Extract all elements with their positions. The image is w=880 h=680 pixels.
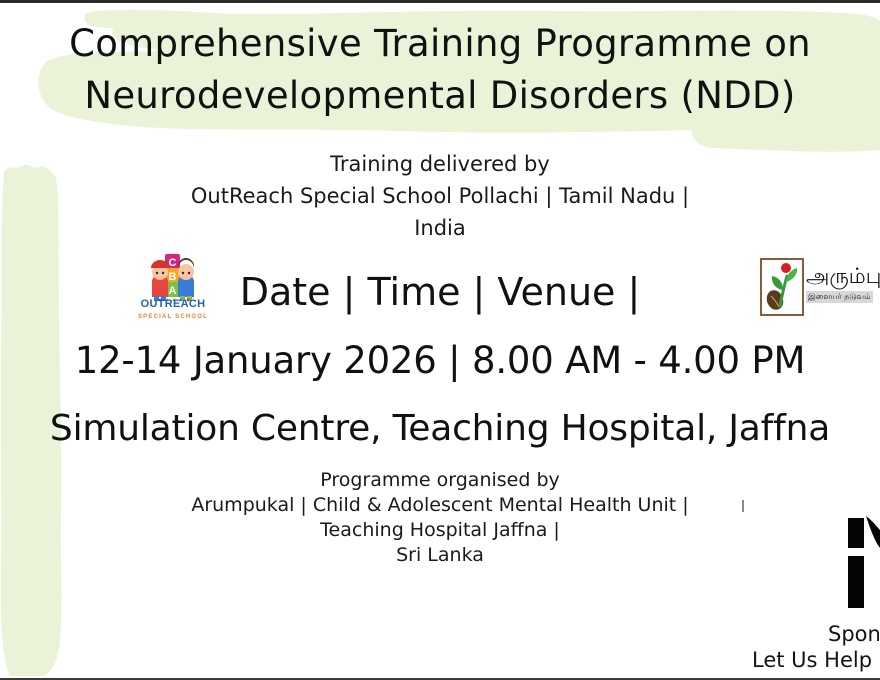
- child-left: [151, 260, 169, 301]
- organised-by-block: Programme organised by Arumpukal | Child…: [0, 468, 880, 568]
- arumpukal-tamil-name: அரும்புகள்: [806, 264, 880, 291]
- arumpukal-logo-icon: [760, 258, 804, 316]
- outreach-special-school-logo: C B A: [136, 252, 210, 320]
- top-rule: [0, 0, 880, 3]
- outreach-subtitle: SPECIAL SCHOOL: [136, 314, 210, 320]
- divider-tick: [742, 500, 744, 512]
- poster-canvas: Comprehensive Training Programme on Neur…: [0, 0, 880, 680]
- sponsor-line-2: Let Us Help: [752, 646, 872, 674]
- delivered-by-line-2: India: [0, 212, 880, 244]
- svg-text:C: C: [169, 257, 177, 269]
- organised-by-line-3: Sri Lanka: [0, 543, 880, 568]
- details-date-time: 12-14 January 2026 | 8.00 AM - 4.00 PM: [0, 336, 880, 386]
- organised-by-line-1: Arumpukal | Child & Adolescent Mental He…: [0, 493, 880, 518]
- organised-by-heading: Programme organised by: [0, 468, 880, 493]
- arumpukal-tamil-subtitle: இளையர் நடுவம்: [806, 291, 873, 303]
- sponsor-logo-icon: [848, 508, 880, 613]
- sponsor-line-1: Spon: [828, 620, 880, 648]
- svg-text:A: A: [169, 285, 177, 297]
- title-line-2: Neurodevelopmental Disorders (NDD): [0, 70, 880, 122]
- delivered-by-block: Training delivered by OutReach Special S…: [0, 148, 880, 244]
- delivered-by-line-1: OutReach Special School Pollachi | Tamil…: [0, 180, 880, 212]
- delivered-by-heading: Training delivered by: [0, 148, 880, 180]
- details-venue: Simulation Centre, Teaching Hospital, Ja…: [0, 404, 880, 454]
- outreach-wordmark: OUTREACH: [136, 298, 210, 310]
- organised-by-line-2: Teaching Hospital Jaffna |: [0, 518, 880, 543]
- outreach-logo-icon: C B A: [136, 252, 210, 302]
- child-right: [178, 258, 194, 301]
- flower-shape: [781, 263, 791, 273]
- svg-text:B: B: [169, 271, 177, 283]
- poster-title: Comprehensive Training Programme on Neur…: [0, 18, 880, 122]
- title-line-1: Comprehensive Training Programme on: [0, 18, 880, 70]
- details-heading: Date | Time | Venue |: [0, 268, 880, 316]
- arumpukal-logo: அரும்புகள் இளையர் நடுவம்: [760, 258, 880, 320]
